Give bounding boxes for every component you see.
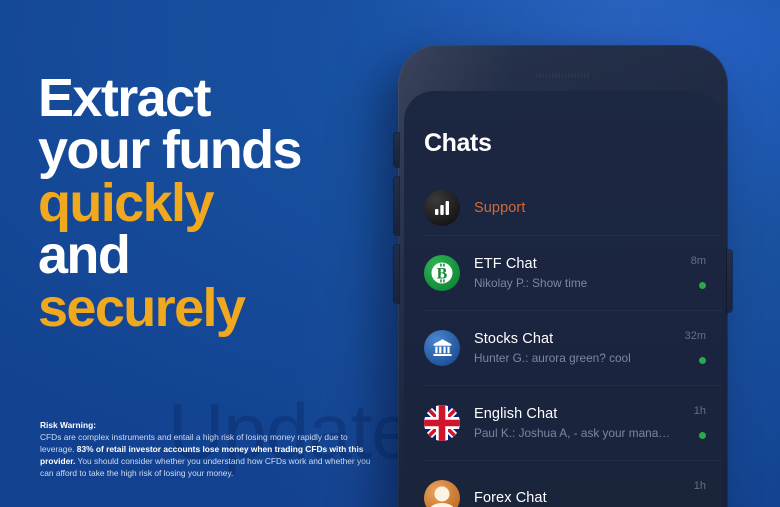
chat-timestamp: 1h [694, 480, 706, 492]
risk-warning-part-2: You should consider whether you understa… [40, 456, 371, 478]
chat-name: ETF Chat [474, 256, 691, 272]
chat-row-body: Forex Chat [460, 490, 694, 506]
headline-line-2: your funds [38, 124, 378, 176]
chat-row-body: Stocks ChatHunter G.: aurora green? cool [460, 331, 685, 365]
chat-preview-message: Hunter G.: aurora green? cool [474, 351, 674, 365]
chat-row-meta: 32m [685, 328, 706, 368]
phone-screen: Chats SupportBETF ChatNikolay P.: Show t… [404, 91, 722, 507]
volume-down-button[interactable] [394, 245, 399, 303]
unread-badge [699, 282, 706, 289]
unread-badge [699, 357, 706, 364]
phone-mockup: Chats SupportBETF ChatNikolay P.: Show t… [398, 45, 728, 507]
headline-line-3: quickly [38, 177, 378, 229]
chat-row[interactable]: Forex Chat1h [404, 460, 722, 507]
chat-row-body: English ChatPaul K.: Joshua A, - ask you… [460, 406, 694, 440]
chat-row[interactable]: Support [404, 180, 722, 235]
headline-line-4: and [38, 229, 378, 281]
chat-row[interactable]: English ChatPaul K.: Joshua A, - ask you… [404, 385, 722, 460]
chat-name: Forex Chat [474, 490, 694, 506]
chat-row-body: ETF ChatNikolay P.: Show time [460, 256, 691, 290]
chat-preview-message: Nikolay P.: Show time [474, 276, 674, 290]
chat-timestamp: 1h [694, 405, 706, 417]
bar-chart-icon [424, 190, 460, 226]
bank-icon [424, 330, 460, 366]
chat-row[interactable]: Stocks ChatHunter G.: aurora green? cool… [404, 310, 722, 385]
person-icon [424, 480, 460, 507]
uk-flag-icon [424, 405, 460, 441]
chat-row-body: Support [460, 200, 706, 216]
page-title: Extract your funds quickly and securely [38, 72, 378, 334]
svg-text:B: B [437, 265, 448, 282]
power-button[interactable] [727, 250, 732, 312]
headline-line-5: securely [38, 282, 378, 334]
chat-timestamp: 32m [685, 330, 706, 342]
chat-list: SupportBETF ChatNikolay P.: Show time8mS… [404, 180, 722, 507]
chat-name: Stocks Chat [474, 331, 685, 347]
chat-row[interactable]: BETF ChatNikolay P.: Show time8m [404, 235, 722, 310]
unread-badge [699, 432, 706, 439]
chat-preview-message: Paul K.: Joshua A, - ask your manager or… [474, 426, 674, 440]
risk-warning: Risk Warning:CFDs are complex instrument… [40, 420, 380, 480]
bitcoin-icon: B [424, 255, 460, 291]
volume-button-top[interactable] [394, 133, 399, 167]
chat-name: Support [474, 200, 706, 216]
chat-row-meta: 1h [694, 478, 706, 507]
earpiece-speaker-icon [536, 73, 590, 78]
risk-warning-title: Risk Warning: [40, 420, 380, 432]
volume-up-button[interactable] [394, 177, 399, 235]
chat-name: English Chat [474, 406, 694, 422]
chat-row-meta: 8m [691, 253, 706, 293]
headline-line-1: Extract [38, 72, 378, 124]
chat-row-meta: 1h [694, 403, 706, 443]
screen-title: Chats [404, 91, 722, 158]
chat-timestamp: 8m [691, 255, 706, 267]
